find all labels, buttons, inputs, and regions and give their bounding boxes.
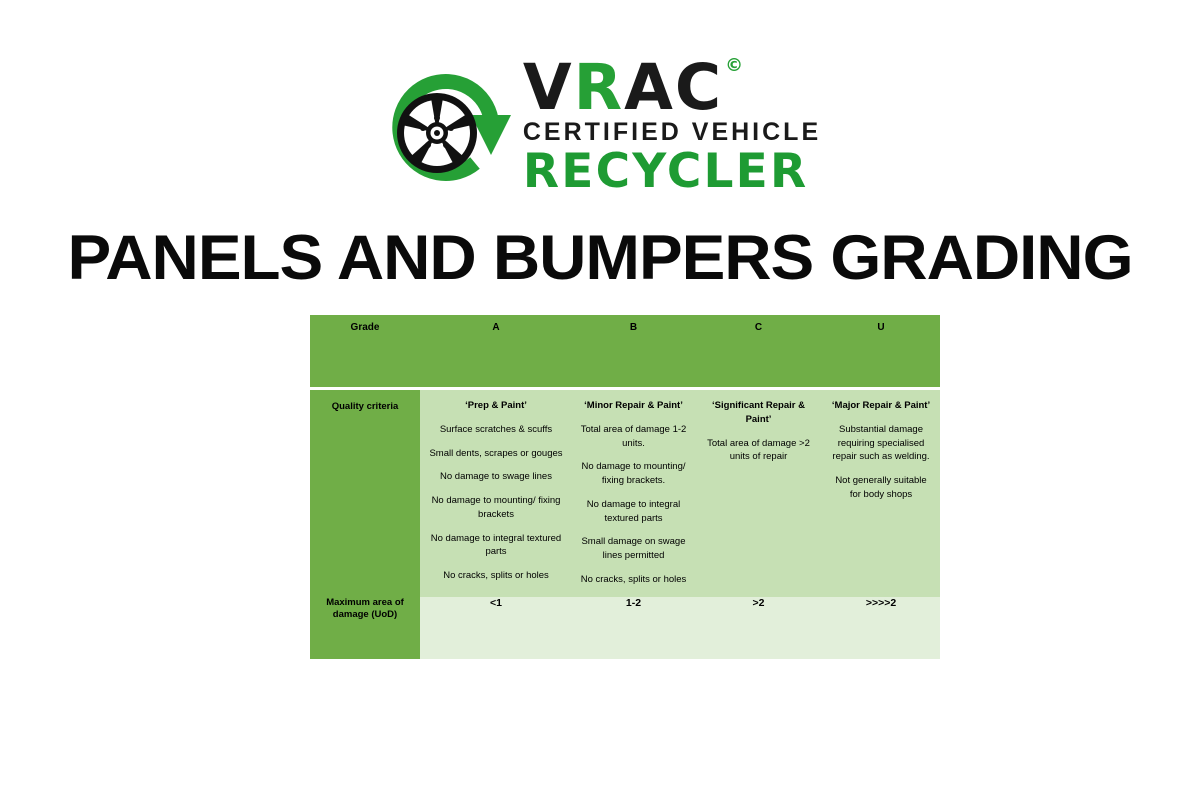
cell-line: No damage to integral textured parts: [427, 532, 565, 560]
brand-logo: VRAC© CERTIFIED VEHICLE RECYCLER: [0, 52, 1200, 202]
cell-line: No damage to swage lines: [427, 470, 565, 484]
logo-letter-r: R: [574, 51, 625, 124]
cell-title: ‘Significant Repair & Paint’: [702, 399, 815, 427]
row-label-maximum-area: Maximum area of damage (UoD): [310, 597, 420, 659]
cell-line: Total area of damage 1-2 units.: [579, 423, 688, 451]
logo-tagline: CERTIFIED VEHICLE: [523, 120, 821, 145]
row-label-quality-criteria: Quality criteria: [310, 390, 420, 597]
header-grade-label: Grade: [310, 315, 420, 387]
cell-quality-grade-c: ‘Significant Repair & Paint’ Total area …: [695, 390, 822, 597]
panels-bumpers-grading-table: Grade A B C U Quality criteria ‘Prep & P…: [310, 315, 940, 659]
header-grade-a: A: [420, 315, 572, 387]
cell-line: No damage to mounting/ fixing brackets.: [579, 460, 688, 488]
cell-line: No cracks, splits or holes: [427, 569, 565, 583]
cell-line: No damage to integral textured parts: [579, 498, 688, 526]
table-row: Quality criteria ‘Prep & Paint’ Surface …: [310, 390, 940, 597]
header-grade-b: B: [572, 315, 695, 387]
cell-line: Substantial damage requiring specialised…: [829, 423, 933, 464]
cell-quality-grade-b: ‘Minor Repair & Paint’ Total area of dam…: [572, 390, 695, 597]
cell-quality-grade-a: ‘Prep & Paint’ Surface scratches & scuff…: [420, 390, 572, 597]
logo-recycler-word: RECYCLER: [523, 148, 809, 195]
logo-letter-v: V: [523, 51, 574, 124]
logo-brand-vrac: VRAC©: [523, 59, 741, 117]
cell-line: No damage to mounting/ fixing brackets: [427, 494, 565, 522]
cell-title: ‘Prep & Paint’: [427, 399, 565, 413]
logo-inner: VRAC© CERTIFIED VEHICLE RECYCLER: [379, 59, 821, 196]
cell-line: Surface scratches & scuffs: [427, 423, 565, 437]
cell-max-area-grade-u: >>>>2: [822, 597, 940, 659]
header-grade-c: C: [695, 315, 822, 387]
copyright-icon: ©: [725, 55, 743, 76]
page-title: PANELS AND BUMPERS GRADING: [0, 222, 1200, 294]
cell-title: ‘Minor Repair & Paint’: [579, 399, 688, 413]
cell-quality-grade-u: ‘Major Repair & Paint’ Substantial damag…: [822, 390, 940, 597]
cell-line: Not generally suitable for body shops: [829, 474, 933, 502]
cell-title: ‘Major Repair & Paint’: [829, 399, 933, 413]
table-footer-row: Maximum area of damage (UoD) <1 1-2 >2 >…: [310, 597, 940, 659]
logo-wordmark: VRAC© CERTIFIED VEHICLE RECYCLER: [523, 59, 821, 196]
cell-line: Small damage on swage lines permitted: [579, 535, 688, 563]
table-header-row: Grade A B C U: [310, 315, 940, 387]
cell-line: Total area of damage >2 units of repair: [702, 437, 815, 465]
logo-letters-ac: AC: [624, 51, 723, 124]
header-grade-u: U: [822, 315, 940, 387]
cell-max-area-grade-b: 1-2: [572, 597, 695, 659]
cell-max-area-grade-a: <1: [420, 597, 572, 659]
cell-line: Small dents, scrapes or gouges: [427, 447, 565, 461]
cell-max-area-grade-c: >2: [695, 597, 822, 659]
alloy-wheel-recycle-arrow-icon: [379, 59, 515, 195]
cell-line: No cracks, splits or holes: [579, 573, 688, 587]
